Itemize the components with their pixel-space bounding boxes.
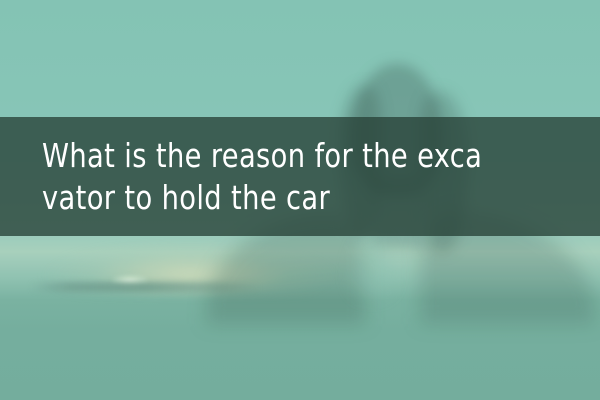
caption-band: What is the reason for the exca vator to… [0, 117, 600, 236]
caption-line-1: What is the reason for the exca [42, 135, 546, 177]
thumbnail-image: What is the reason for the exca vator to… [0, 0, 600, 400]
caption-line-2: vator to hold the car [42, 177, 546, 219]
